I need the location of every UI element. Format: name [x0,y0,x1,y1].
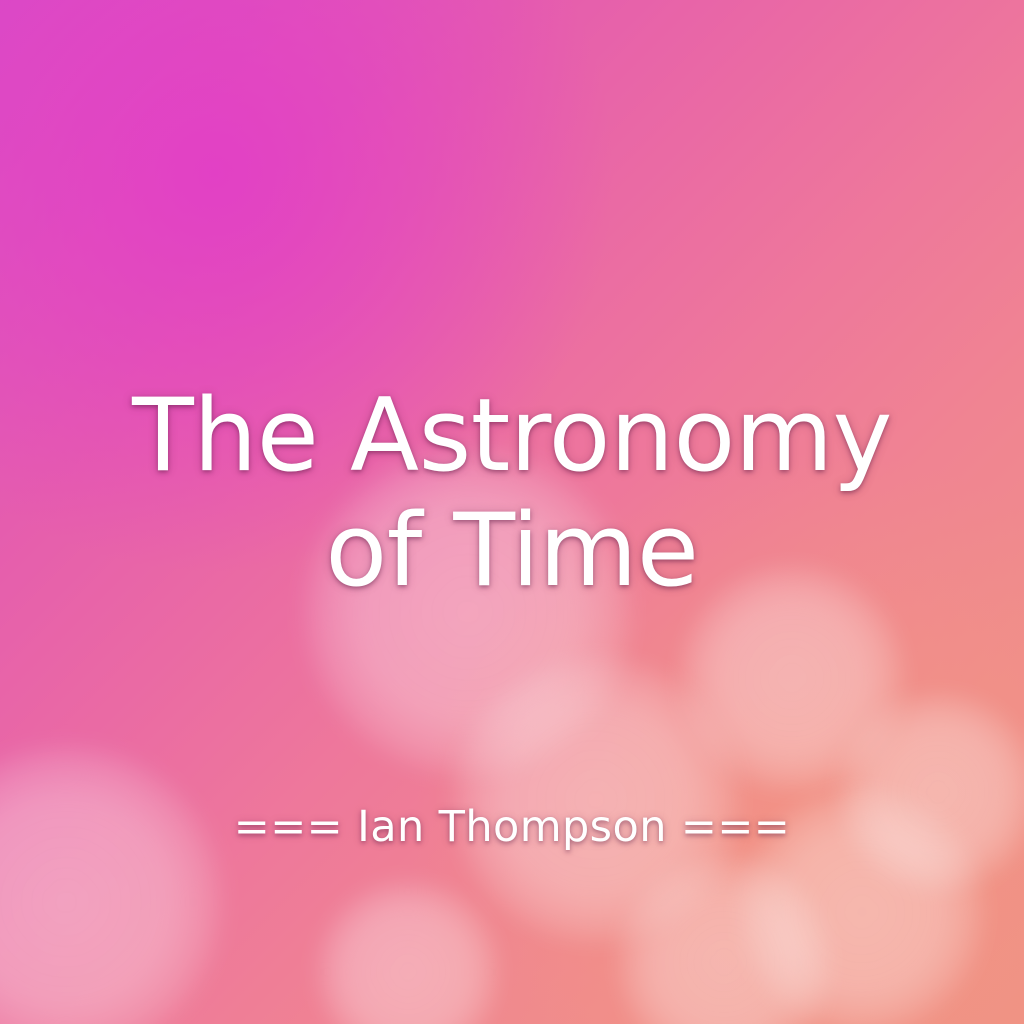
book-cover: The Astronomy of Time === Ian Thompson =… [0,0,1024,1024]
cover-text-block: The Astronomy of Time === Ian Thompson =… [0,0,1024,1024]
book-author: === Ian Thompson === [60,802,964,852]
book-title: The Astronomy of Time [96,378,928,608]
